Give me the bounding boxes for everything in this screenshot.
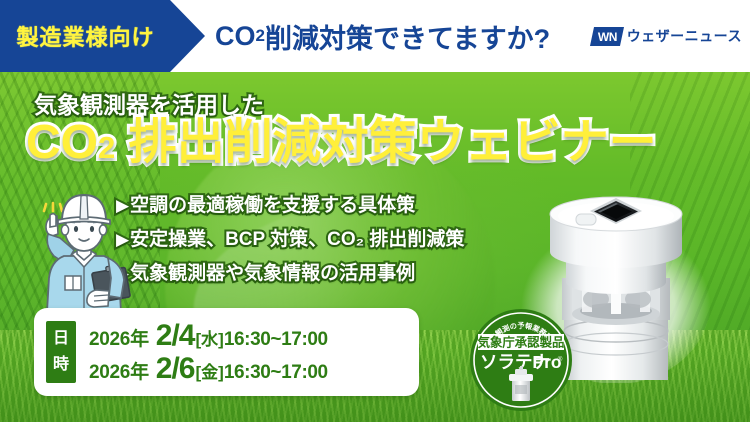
weathernews-logo: WN ウェザーニュース: [592, 0, 742, 72]
header-bar: 製造業様向け CO2 削減対策できてますか? WN ウェザーニュース: [0, 0, 750, 72]
header-title-rest: 削減対策できてますか?: [265, 17, 550, 56]
bullet-text-2: 安定操業、BCP 対策、CO₂ 排出削減策: [130, 229, 464, 250]
bullet-item-3: ▶気象観測器や気象情報の活用事例: [116, 258, 464, 285]
schedule-dayofweek-1: [水]: [196, 331, 224, 348]
header-title-co: CO: [215, 21, 256, 52]
hero-title: CO2 排出削減対策ウェビナー: [26, 116, 657, 170]
schedule-label-line2: 時: [53, 357, 69, 373]
audience-tag-arrow: 製造業様向け: [0, 0, 205, 72]
webinar-banner: 製造業様向け CO2 削減対策できてますか? WN ウェザーニュース 気象観測器…: [0, 0, 750, 422]
sparkle-icon: [44, 203, 62, 211]
schedule-year-1: 2026年: [89, 330, 149, 349]
schedule-rows: 2026年 2/4 [水] 16:30~17:00 2026年 2/6 [金] …: [89, 321, 328, 384]
schedule-label: 日 時: [46, 321, 76, 383]
product-certification-badge: 気象観測の予報業務利用 気象庁承認製品 ソラテナ Pro ®: [469, 308, 573, 412]
hero-title-co: CO: [26, 116, 98, 169]
schedule-box: 日 時 2026年 2/4 [水] 16:30~17:00 2026年 2/6 …: [34, 308, 419, 396]
schedule-row-2: 2026年 2/6 [金] 16:30~17:00: [89, 354, 328, 384]
schedule-time-2: 16:30~17:00: [224, 363, 328, 382]
weathernews-logo-name: ウェザーニュース: [627, 26, 742, 46]
hero-title-subscript: 2: [98, 130, 115, 165]
header-title: CO2 削減対策できてますか?: [215, 0, 550, 72]
badge-certification-text: 気象庁承認製品: [478, 335, 565, 350]
schedule-dayofweek-2: [金]: [196, 364, 224, 381]
schedule-monthday-2: 2/6: [156, 354, 195, 384]
bullet-item-2: ▶安定操業、BCP 対策、CO₂ 排出削減策: [116, 224, 464, 251]
bullet-text-3: 気象観測器や気象情報の活用事例: [130, 263, 415, 284]
bullet-list: ▶空調の最適稼働を支援する具体策 ▶安定操業、BCP 対策、CO₂ 排出削減策 …: [116, 190, 464, 285]
hero-title-rest: 排出削減対策ウェビナー: [115, 116, 656, 169]
schedule-label-line1: 日: [53, 331, 69, 347]
badge-registered-mark: ®: [558, 355, 563, 363]
schedule-monthday-1: 2/4: [156, 321, 195, 351]
hero-kicker: 気象観測器を活用した: [34, 86, 264, 120]
bullet-item-1: ▶空調の最適稼働を支援する具体策: [116, 190, 464, 217]
schedule-time-1: 16:30~17:00: [224, 330, 328, 349]
wn-mark-text: WN: [597, 29, 616, 43]
wn-mark-icon: WN: [590, 27, 624, 46]
worker-pointing-illustration: [22, 182, 144, 314]
schedule-row-1: 2026年 2/4 [水] 16:30~17:00: [89, 321, 328, 351]
schedule-year-2: 2026年: [89, 363, 149, 382]
audience-tag-label: 製造業様向け: [16, 20, 178, 52]
bullet-text-1: 空調の最適稼働を支援する具体策: [130, 195, 415, 216]
header-title-subscript: 2: [256, 26, 265, 46]
